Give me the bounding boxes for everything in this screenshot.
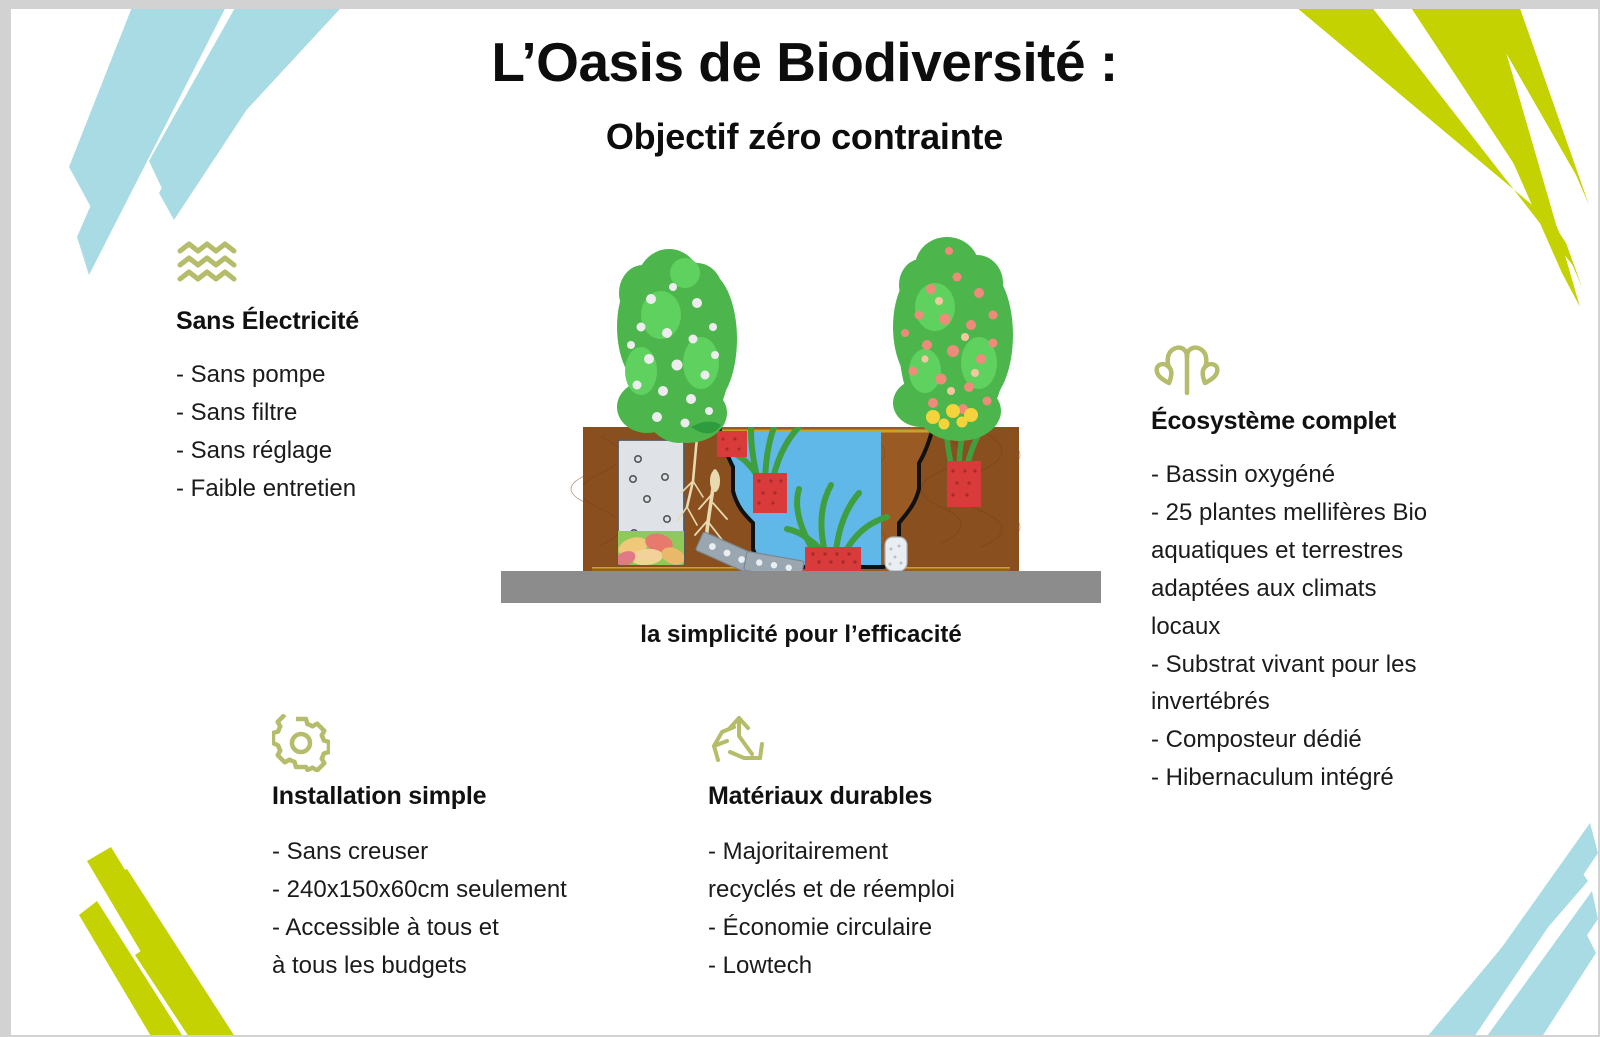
feature-installation-simple: Installation simple - Sans creuser - 240… [272,714,632,985]
pot-bank-left [717,431,747,457]
list-item: - Bassin oxygéné [1151,456,1471,494]
feature-list: - Bassin oxygéné - 25 plantes mellifères… [1151,456,1471,797]
feature-sans-electricite: Sans Électricité - Sans pompe - Sans fil… [176,239,506,508]
list-item: - Lowtech [708,947,1008,985]
shrub-left-white-blossom [617,249,737,443]
recycle-icon [708,714,1008,770]
list-item: - 25 plantes mellifères Bio aquatiques e… [1151,494,1471,646]
aerator-stone [885,537,907,571]
feature-title: Matériaux durables [708,782,1008,811]
pond-diagram-svg [501,231,1101,611]
feature-title: Sans Électricité [176,307,506,336]
page-subtitle: Objectif zéro contrainte [11,116,1598,158]
list-item: - Substrat vivant pour les invertébrés [1151,646,1471,722]
feature-list: - Majoritairement recyclés et de réemplo… [708,833,1008,985]
list-item: - Composteur dédié [1151,721,1471,759]
pot-submerged [805,547,861,571]
page-title: L’Oasis de Biodiversité : [11,31,1598,94]
feature-list: - Sans pompe - Sans filtre - Sans réglag… [176,356,506,508]
poster-header: L’Oasis de Biodiversité : Objectif zéro … [11,31,1598,158]
gear-icon [272,714,632,770]
list-item: - Sans filtre [176,394,506,432]
list-item: - Sans pompe [176,356,506,394]
feature-list: - Sans creuser - 240x150x60cm seulement … [272,833,632,985]
feature-title: Écosystème complet [1151,407,1471,436]
list-item: - Faible entretien [176,470,506,508]
list-item: - 240x150x60cm seulement [272,871,632,909]
list-item: - Économie circulaire [708,909,1008,947]
pot-emergent-left [753,473,787,513]
list-item: - Majoritairement recyclés et de réemplo… [708,833,1008,909]
poster-canvas: L’Oasis de Biodiversité : Objectif zéro … [0,0,1600,1037]
list-item: - Sans réglage [176,432,506,470]
pond-cross-section-illustration [501,231,1101,611]
pot-emergent-right [947,461,981,507]
composter-leaf-litter [612,531,687,570]
illustration-caption: la simplicité pour l’efficacité [501,621,1101,649]
decorative-ribbons-bottom-right [1338,813,1598,1037]
ground-slab [501,571,1101,603]
list-item: - Accessible à tous et à tous les budget… [272,909,632,985]
feature-title: Installation simple [272,782,632,811]
feature-ecosysteme-complet: Écosystème complet - Bassin oxygéné - 25… [1151,339,1471,797]
waves-icon [176,239,506,295]
sprout-icon [1151,339,1471,395]
list-item: - Sans creuser [272,833,632,871]
feature-materiaux-durables: Matériaux durables - Majoritairement rec… [708,714,1008,985]
list-item: - Hibernaculum intégré [1151,759,1471,797]
